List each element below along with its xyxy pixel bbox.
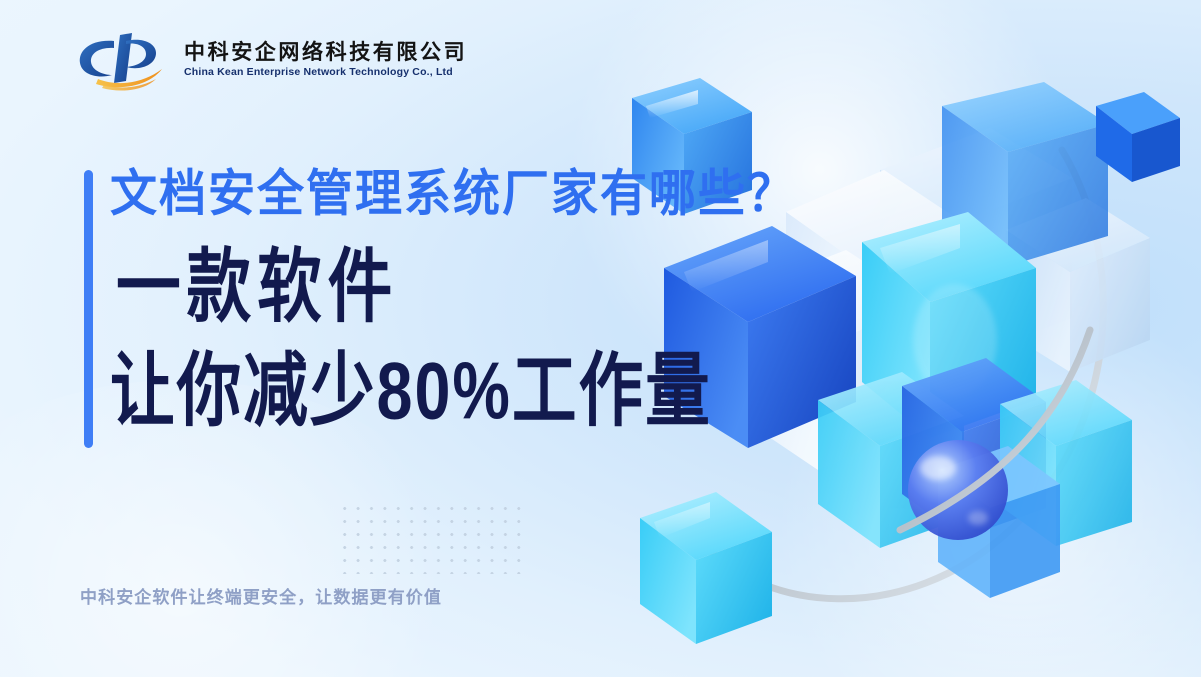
headline-group: 文档安全管理系统厂家有哪些？ 一款软件 让你减少80%工作量: [110, 166, 796, 419]
dot-grid-decoration: [338, 502, 528, 574]
headline-primary: 一款软件: [116, 245, 782, 330]
banner-hero: 中科安企网络科技有限公司 China Kean Enterprise Netwo…: [0, 0, 1201, 677]
headline-accent-bar: [84, 170, 93, 448]
headline-question: 文档安全管理系统厂家有哪些？: [110, 166, 796, 222]
headline-secondary: 让你减少80%工作量: [110, 349, 782, 434]
background-glow-right: [760, 300, 1201, 677]
company-name-en: China Kean Enterprise Network Technology…: [184, 67, 467, 79]
kean-monogram-icon: [74, 29, 170, 91]
tagline: 中科安企软件让终端更安全，让数据更有价值: [80, 583, 442, 608]
company-name-cn: 中科安企网络科技有限公司: [184, 41, 467, 65]
company-logo[interactable]: 中科安企网络科技有限公司 China Kean Enterprise Netwo…: [74, 29, 467, 91]
